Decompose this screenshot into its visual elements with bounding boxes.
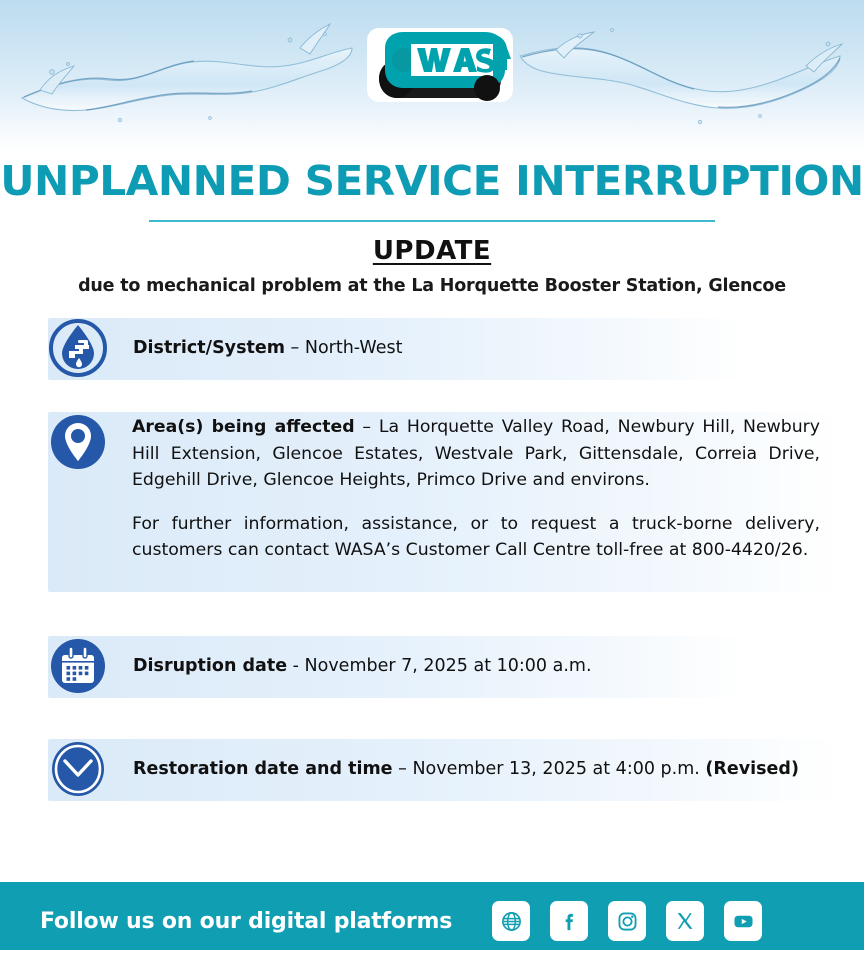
district-label: District/System	[133, 338, 285, 358]
water-droplet-tap-icon	[48, 318, 108, 378]
content-rows: District/System – North-West Area(s) bei…	[0, 296, 864, 960]
area-separator: –	[355, 417, 379, 437]
row-restoration-date: Restoration date and time – November 13,…	[48, 739, 799, 799]
row-disruption-date: Disruption date - November 7, 2025 at 10…	[48, 636, 592, 696]
disruption-label: Disruption date	[133, 656, 287, 676]
restoration-revised-badge: (Revised)	[705, 759, 799, 779]
facebook-icon[interactable]	[550, 901, 588, 941]
row-district-system: District/System – North-West	[48, 318, 402, 378]
disruption-value: November 7, 2025 at 10:00 a.m.	[305, 656, 592, 676]
area-label: Area(s) being affected	[132, 417, 355, 437]
location-pin-icon	[48, 412, 108, 472]
disruption-text: Disruption date - November 7, 2025 at 10…	[108, 636, 592, 696]
district-separator: –	[285, 338, 305, 358]
header-banner	[0, 0, 864, 152]
area-paragraph-2: For further information, assistance, or …	[132, 511, 820, 564]
restoration-separator: –	[393, 759, 413, 779]
instagram-icon[interactable]	[608, 901, 646, 941]
youtube-icon[interactable]	[724, 901, 762, 941]
title-block: UNPLANNED SERVICE INTERRUPTION UPDATE du…	[0, 152, 864, 296]
restoration-text: Restoration date and time – November 13,…	[108, 739, 799, 799]
wasa-logo	[365, 26, 515, 104]
restoration-value: November 13, 2025 at 4:00 p.m.	[412, 759, 705, 779]
restoration-label: Restoration date and time	[133, 759, 393, 779]
page-title: UNPLANNED SERVICE INTERRUPTION	[0, 160, 864, 203]
title-divider	[149, 220, 715, 222]
footer-follow-text: Follow us on our digital platforms	[40, 909, 452, 934]
clock-icon	[48, 739, 108, 799]
footer-bar: Follow us on our digital platforms	[0, 882, 864, 960]
calendar-icon	[48, 636, 108, 696]
district-text: District/System – North-West	[108, 318, 402, 378]
bottom-white-strip	[0, 950, 864, 960]
social-links	[492, 901, 762, 941]
area-paragraph-1: Area(s) being affected – La Horquette Va…	[132, 414, 820, 494]
district-value: North-West	[305, 338, 403, 358]
area-text: Area(s) being affected – La Horquette Va…	[108, 412, 820, 564]
update-heading: UPDATE	[0, 236, 864, 266]
service-interruption-notice: UNPLANNED SERVICE INTERRUPTION UPDATE du…	[0, 0, 864, 960]
disruption-separator: -	[287, 656, 304, 676]
subtitle-reason: due to mechanical problem at the La Horq…	[0, 276, 864, 296]
row-areas-affected: Area(s) being affected – La Horquette Va…	[48, 412, 820, 564]
website-globe-icon[interactable]	[492, 901, 530, 941]
wasa-logo-mark	[365, 26, 515, 104]
x-twitter-icon[interactable]	[666, 901, 704, 941]
